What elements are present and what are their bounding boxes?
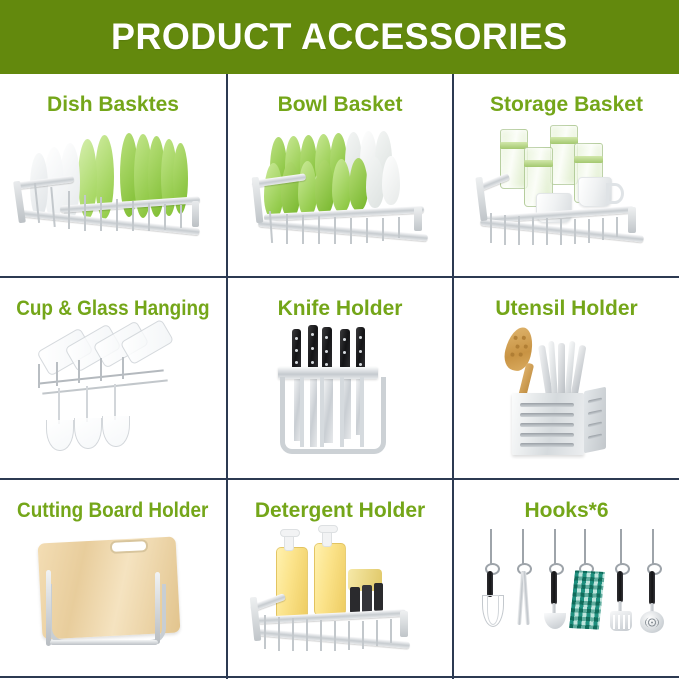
cutting-board-holder-icon (0, 522, 226, 679)
grid-cell-detergent-holder[interactable]: Detergent Holder (226, 478, 452, 679)
cup-glass-hanging-icon (0, 320, 226, 479)
cell-label-bowl-basket: Bowl Basket (278, 94, 403, 115)
cell-label-utensil-holder: Utensil Holder (495, 298, 637, 319)
cell-label-detergent-holder: Detergent Holder (255, 500, 425, 521)
cell-label-hooks: Hooks*6 (524, 500, 608, 521)
grid-cell-cup-glass-hanging[interactable]: Cup & Glass Hanging (0, 276, 226, 478)
header-banner: PRODUCT ACCESSORIES (0, 0, 679, 74)
storage-basket-icon (454, 115, 679, 276)
utensil-holder-icon (454, 319, 679, 478)
hooks-icon (454, 521, 679, 679)
bottom-divider (0, 676, 679, 678)
page-title: PRODUCT ACCESSORIES (111, 16, 568, 58)
cell-label-cup-glass-hanging: Cup & Glass Hanging (16, 298, 209, 320)
grid-cell-dish-basket[interactable]: Dish Basktes (0, 74, 226, 276)
dish-basket-icon (0, 115, 226, 276)
grid-cell-utensil-holder[interactable]: Utensil Holder (452, 276, 679, 478)
grid-cell-knife-holder[interactable]: Knife Holder (226, 276, 452, 478)
grid-cell-cutting-board-holder[interactable]: Cutting Board Holder (0, 478, 226, 679)
grid-cell-bowl-basket[interactable]: Bowl Basket (226, 74, 452, 276)
cell-label-dish-basket: Dish Basktes (47, 94, 179, 115)
cell-label-cutting-board-holder: Cutting Board Holder (17, 500, 208, 522)
bowl-basket-icon (228, 115, 452, 276)
knife-holder-icon (228, 319, 452, 478)
accessories-grid: Dish Basktes (0, 74, 679, 679)
grid-cell-storage-basket[interactable]: Storage Basket (452, 74, 679, 276)
product-accessories-infographic: PRODUCT ACCESSORIES Dish Basktes (0, 0, 679, 679)
detergent-holder-icon (228, 521, 452, 679)
cell-label-knife-holder: Knife Holder (278, 298, 403, 319)
grid-cell-hooks[interactable]: Hooks*6 (452, 478, 679, 679)
cell-label-storage-basket: Storage Basket (490, 94, 643, 115)
